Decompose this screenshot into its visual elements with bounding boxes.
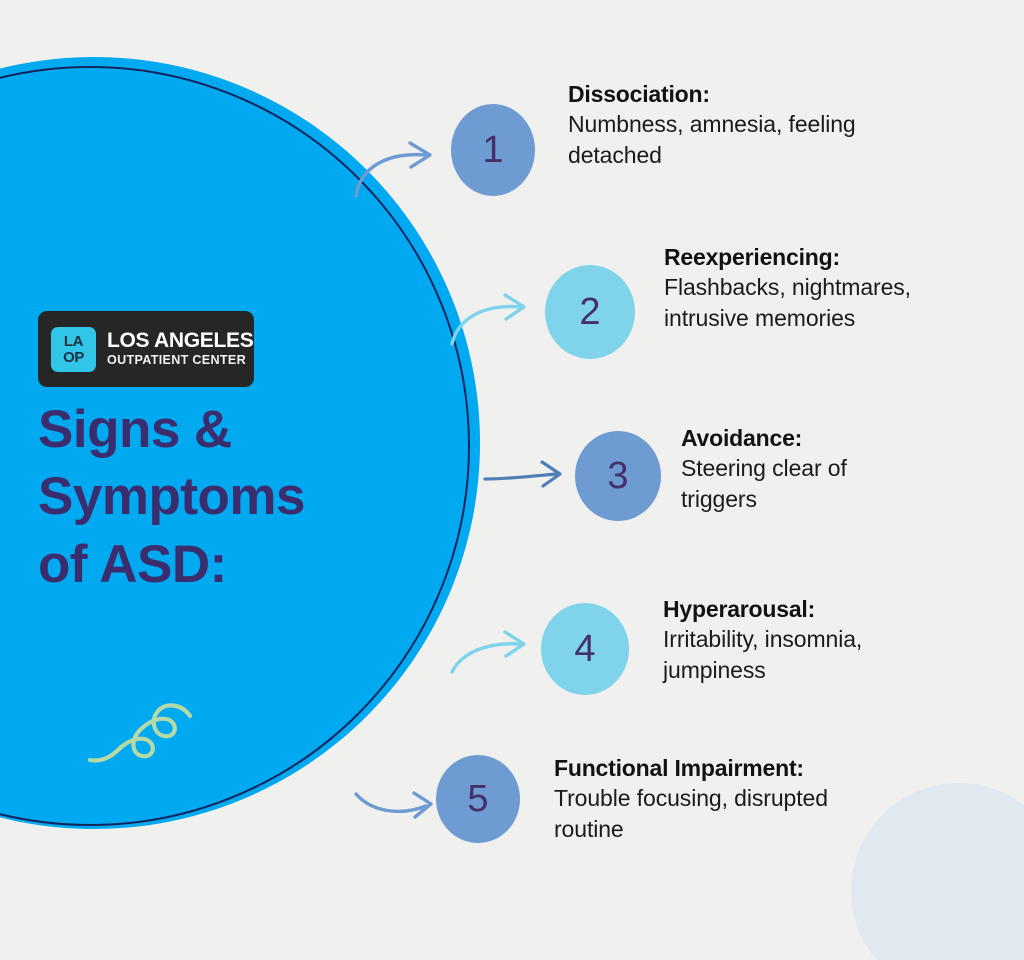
list-item-5-desc-line-1: Trouble focusing, disrupted bbox=[554, 783, 974, 814]
list-item-4-title: Hyperarousal: bbox=[663, 595, 1003, 624]
list-item-2-title: Reexperiencing: bbox=[664, 243, 1014, 272]
logo-name: LOS ANGELES bbox=[107, 330, 253, 352]
logo-mark-line2: OP bbox=[63, 350, 84, 365]
infographic-canvas: LA OP LOS ANGELES OUTPATIENT CENTER Sign… bbox=[0, 0, 1024, 960]
list-item-1-title: Dissociation: bbox=[568, 80, 998, 109]
list-item-3-desc-line-1: Steering clear of bbox=[681, 453, 1011, 484]
page-title: Signs & Symptoms of ASD: bbox=[38, 396, 438, 598]
page-title-line-3: of ASD: bbox=[38, 531, 438, 598]
arrow-3-icon bbox=[482, 455, 588, 497]
list-item-4-number: 4 bbox=[541, 603, 629, 695]
logo-mark-line1: LA bbox=[64, 334, 83, 349]
logo-mark-icon: LA OP bbox=[51, 327, 96, 372]
logo-tagline: OUTPATIENT CENTER bbox=[107, 353, 253, 368]
swirl-decoration-icon bbox=[78, 678, 193, 778]
list-item-1-number: 1 bbox=[451, 104, 535, 196]
list-item-4-desc-line-1: Irritability, insomnia, bbox=[663, 624, 1003, 655]
list-item-5-number: 5 bbox=[436, 755, 520, 843]
page-title-line-2: Symptoms bbox=[38, 463, 438, 530]
list-item-2-number: 2 bbox=[545, 265, 635, 359]
logo-badge: LA OP LOS ANGELES OUTPATIENT CENTER bbox=[38, 311, 254, 387]
list-item-2-desc-line-2: intrusive memories bbox=[664, 303, 1014, 334]
list-item-2-desc-line-1: Flashbacks, nightmares, bbox=[664, 272, 1014, 303]
list-item-3-number: 3 bbox=[575, 431, 661, 521]
list-item-4-desc-line-2: jumpiness bbox=[663, 655, 1003, 686]
list-item-1-desc-line-1: Numbness, amnesia, feeling bbox=[568, 109, 998, 140]
list-item-1-desc-line-2: detached bbox=[568, 140, 998, 171]
arrow-2-icon bbox=[448, 282, 560, 348]
list-item-3-desc-line-2: triggers bbox=[681, 484, 1011, 515]
list-item-3-title: Avoidance: bbox=[681, 424, 1011, 453]
list-item-5-desc-line-2: routine bbox=[554, 814, 974, 845]
page-title-line-1: Signs & bbox=[38, 396, 438, 463]
logo-wordmark: LOS ANGELES OUTPATIENT CENTER bbox=[107, 330, 253, 368]
list-item-5-title: Functional Impairment: bbox=[554, 754, 974, 783]
